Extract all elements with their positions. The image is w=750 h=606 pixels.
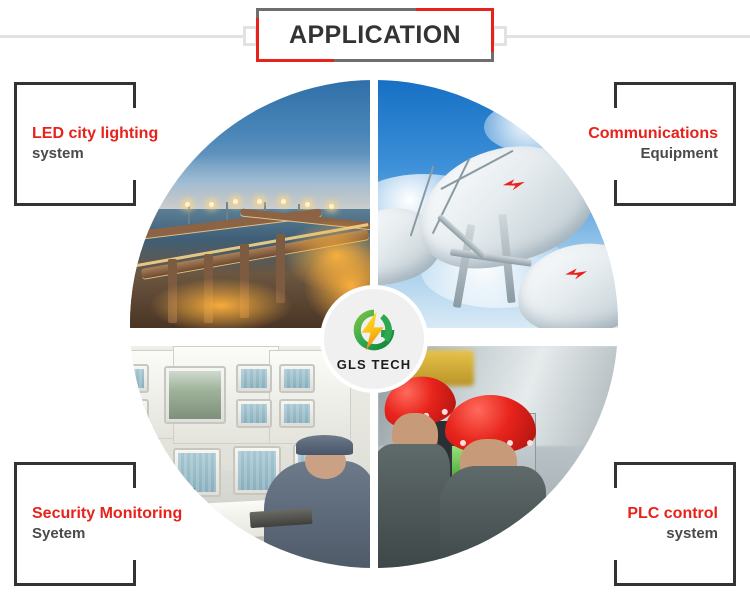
wall-monitor (279, 364, 315, 393)
cloud (484, 100, 594, 155)
bracket-top-edge (614, 82, 736, 85)
header-rule-right (505, 35, 750, 38)
street-lamp (185, 202, 190, 207)
label-primary-text: Security Monitoring (32, 504, 136, 524)
wall-monitor (236, 364, 272, 393)
wall-monitor (130, 364, 149, 393)
computer-mouse (207, 524, 224, 533)
header-rule-left (0, 35, 245, 38)
quadrant-security (130, 346, 370, 568)
quadrant-led-lighting (130, 80, 370, 328)
quadrant-communications (378, 80, 618, 328)
bracket-right-top-stub (133, 462, 136, 488)
page-title: APPLICATION (289, 21, 461, 50)
bracket-left-edge (14, 82, 17, 206)
label-secondary-text: system (32, 144, 136, 164)
bracket-bottom-edge (14, 203, 136, 206)
bracket-left-bottom-stub (614, 180, 617, 206)
security-officer-cap (296, 435, 354, 455)
bridge-night-photo (130, 80, 370, 328)
bracket-left-bottom-stub (614, 560, 617, 586)
bracket-bottom-edge (614, 203, 736, 206)
quadrant-plc (378, 346, 618, 568)
street-lamp (209, 202, 214, 207)
bracket-top-edge (14, 82, 136, 85)
wall-monitor (130, 399, 149, 428)
bracket-right-bottom-stub (133, 180, 136, 206)
label-security-monitoring: Security Monitoring Syetem (14, 462, 136, 586)
bracket-right-top-stub (133, 82, 136, 108)
water-reflection-glow (149, 278, 293, 328)
section-title-box: APPLICATION (256, 8, 494, 62)
label-led-city-lighting: LED city lighting system (14, 82, 136, 206)
bracket-right-edge (733, 82, 736, 206)
header-connector-right (492, 26, 507, 46)
gls-lightning-ring-icon (347, 307, 401, 353)
desk-monitor (173, 448, 221, 497)
bracket-left-top-stub (614, 462, 617, 488)
label-secondary-text: system (627, 524, 718, 544)
wall-monitor (279, 399, 315, 428)
worker-body (378, 444, 450, 568)
bracket-top-edge (14, 462, 136, 465)
satellite-dish-photo (378, 80, 618, 328)
bracket-right-edge (733, 462, 736, 586)
wall-monitor (236, 399, 272, 428)
plc-control-photo (378, 346, 618, 568)
label-primary-text: LED city lighting (32, 124, 136, 144)
label-secondary-text: Syetem (32, 524, 136, 544)
handheld-radio (185, 488, 195, 521)
label-secondary-text: Equipment (588, 144, 718, 164)
title-accent-top-right-horizontal (416, 8, 494, 11)
label-primary-text: Communications (588, 124, 718, 144)
security-control-room-photo (130, 346, 370, 568)
bracket-right-bottom-stub (133, 560, 136, 586)
title-accent-top-right-vertical (491, 8, 494, 52)
wall-monitor-large (164, 366, 226, 424)
label-communications-equipment: Communications Equipment (614, 82, 736, 206)
bracket-bottom-edge (614, 583, 736, 586)
bracket-left-top-stub (614, 82, 617, 108)
street-lamp (305, 202, 310, 207)
label-primary-text: PLC control (627, 504, 718, 524)
title-accent-bottom-left-vertical (256, 18, 259, 62)
label-plc-control: PLC control system (614, 462, 736, 586)
title-accent-bottom-left-horizontal (256, 59, 334, 62)
bracket-bottom-edge (14, 583, 136, 586)
gls-tech-logo-badge: GLS TECH (320, 285, 428, 393)
worker-body (440, 466, 546, 568)
bridge-sky-haze (130, 154, 370, 209)
bracket-top-edge (614, 462, 736, 465)
logo-wordmark: GLS TECH (337, 357, 412, 372)
application-header: APPLICATION (0, 0, 750, 72)
bracket-left-edge (14, 462, 17, 586)
lamp-pole (188, 204, 190, 224)
